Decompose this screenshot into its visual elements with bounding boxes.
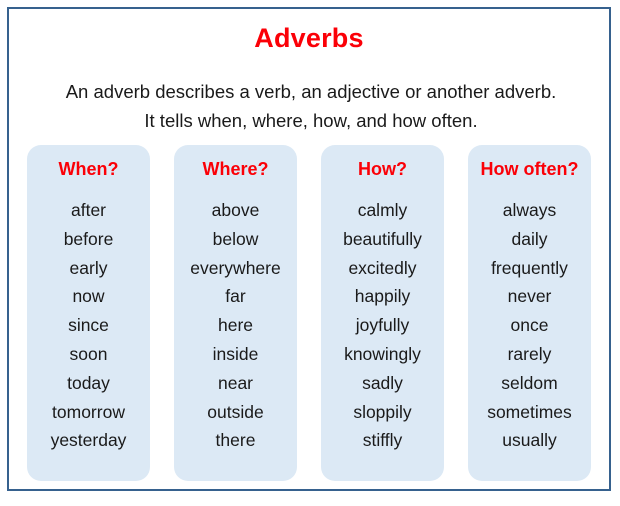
list-item: below bbox=[176, 225, 295, 254]
intro-line-2: It tells when, where, how, and how often… bbox=[19, 106, 603, 135]
list-item: everywhere bbox=[176, 254, 295, 283]
list-item: far bbox=[176, 282, 295, 311]
list-item: seldom bbox=[470, 369, 589, 398]
card-header-how: How? bbox=[358, 159, 407, 180]
adverbs-poster: Adverbs An adverb describes a verb, an a… bbox=[7, 7, 611, 491]
list-item: sloppily bbox=[323, 398, 442, 427]
list-item: after bbox=[29, 196, 148, 225]
list-item: joyfully bbox=[323, 311, 442, 340]
list-item: always bbox=[470, 196, 589, 225]
word-list-how-often: always daily frequently never once rarel… bbox=[470, 196, 589, 455]
list-item: early bbox=[29, 254, 148, 283]
list-item: sometimes bbox=[470, 398, 589, 427]
list-item: there bbox=[176, 426, 295, 455]
page-title: Adverbs bbox=[9, 23, 609, 54]
word-list-when: after before early now since soon today … bbox=[29, 196, 148, 455]
list-item: yesterday bbox=[29, 426, 148, 455]
list-item: near bbox=[176, 369, 295, 398]
list-item: sadly bbox=[323, 369, 442, 398]
word-list-where: above below everywhere far here inside n… bbox=[176, 196, 295, 455]
list-item: happily bbox=[323, 282, 442, 311]
list-item: calmly bbox=[323, 196, 442, 225]
list-item: knowingly bbox=[323, 340, 442, 369]
adverb-card-when: When? after before early now since soon … bbox=[27, 145, 150, 481]
list-item: above bbox=[176, 196, 295, 225]
card-header-where: Where? bbox=[202, 159, 268, 180]
list-item: here bbox=[176, 311, 295, 340]
list-item: excitedly bbox=[323, 254, 442, 283]
list-item: before bbox=[29, 225, 148, 254]
list-item: never bbox=[470, 282, 589, 311]
list-item: today bbox=[29, 369, 148, 398]
list-item: rarely bbox=[470, 340, 589, 369]
intro-text: An adverb describes a verb, an adjective… bbox=[19, 77, 603, 135]
list-item: soon bbox=[29, 340, 148, 369]
list-item: now bbox=[29, 282, 148, 311]
list-item: frequently bbox=[470, 254, 589, 283]
adverb-card-where: Where? above below everywhere far here i… bbox=[174, 145, 297, 481]
adverb-category-cards: When? after before early now since soon … bbox=[9, 145, 609, 481]
list-item: daily bbox=[470, 225, 589, 254]
list-item: usually bbox=[470, 426, 589, 455]
list-item: tomorrow bbox=[29, 398, 148, 427]
card-header-how-often: How often? bbox=[481, 159, 579, 180]
word-list-how: calmly beautifully excitedly happily joy… bbox=[323, 196, 442, 455]
intro-line-1: An adverb describes a verb, an adjective… bbox=[19, 77, 603, 106]
list-item: outside bbox=[176, 398, 295, 427]
adverb-card-how: How? calmly beautifully excitedly happil… bbox=[321, 145, 444, 481]
list-item: inside bbox=[176, 340, 295, 369]
adverb-card-how-often: How often? always daily frequently never… bbox=[468, 145, 591, 481]
list-item: once bbox=[470, 311, 589, 340]
list-item: beautifully bbox=[323, 225, 442, 254]
list-item: since bbox=[29, 311, 148, 340]
list-item: stiffly bbox=[323, 426, 442, 455]
card-header-when: When? bbox=[59, 159, 119, 180]
